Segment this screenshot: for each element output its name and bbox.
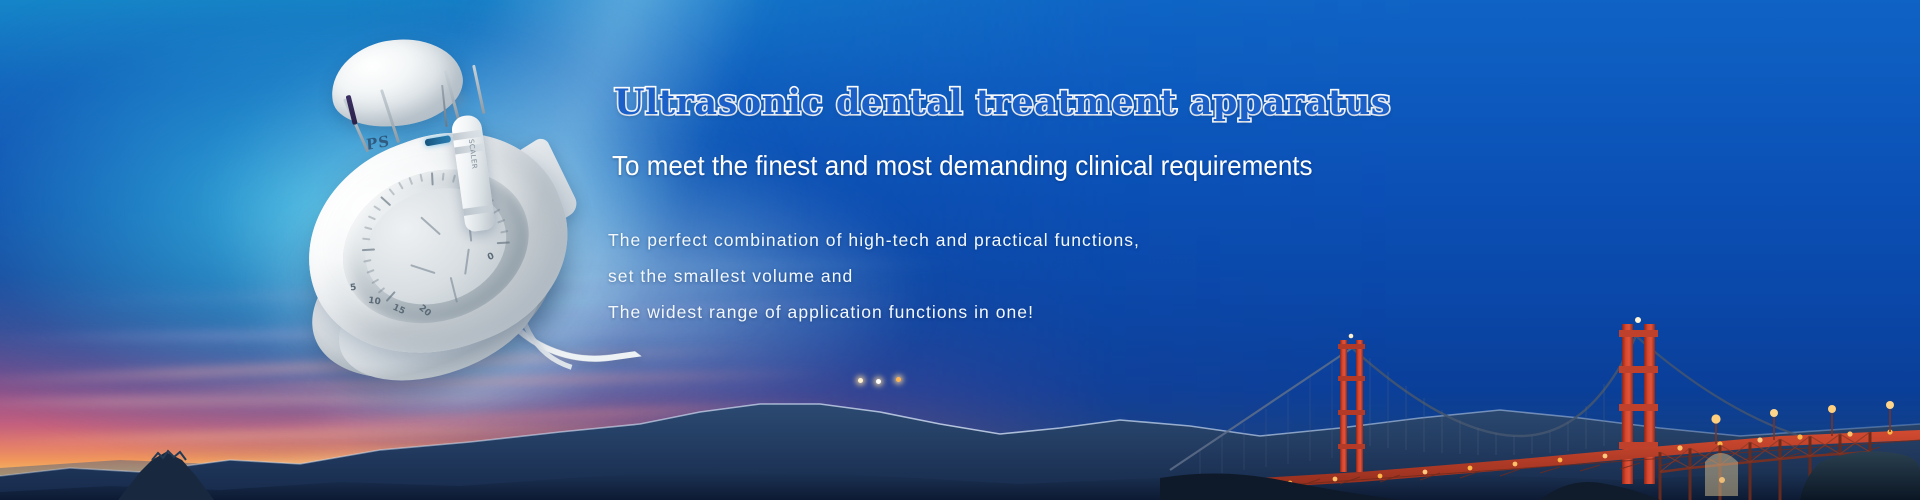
page-title: Ultrasonic dental treatment apparatus bbox=[614, 84, 1368, 122]
banner-body-copy: The perfect combination of high-tech and… bbox=[608, 223, 1368, 331]
body-line: set the smallest volume and bbox=[608, 259, 1368, 295]
bridge-tower-far bbox=[1338, 334, 1365, 472]
dial-tick bbox=[420, 174, 424, 182]
body-line: The widest range of application function… bbox=[608, 295, 1368, 331]
banner-copy-block: Ultrasonic dental treatment apparatus To… bbox=[608, 84, 1368, 330]
headland-rock-right bbox=[1800, 451, 1920, 500]
dial-tick bbox=[368, 215, 376, 220]
ridge-light bbox=[858, 378, 863, 383]
dial-tick bbox=[431, 172, 434, 185]
dial-scale-number: 5 bbox=[350, 283, 358, 294]
ridge-light bbox=[896, 377, 901, 382]
dial-tick bbox=[497, 241, 510, 244]
product-hero-banner: 20151050 PS SCALER Ultrasonic dental tre… bbox=[0, 0, 1920, 500]
dial-tick bbox=[389, 188, 396, 195]
ultrasonic-dental-scaler-product: 20151050 PS SCALER bbox=[224, 0, 647, 414]
dial-tick bbox=[442, 173, 445, 181]
ridge-light bbox=[876, 379, 881, 384]
dial-tick bbox=[408, 177, 413, 185]
dial-tick bbox=[452, 175, 456, 183]
dial-tick bbox=[380, 196, 391, 206]
dial-tick bbox=[373, 205, 381, 211]
dial-tick bbox=[362, 238, 370, 241]
page-subtitle: To meet the finest and most demanding cl… bbox=[612, 148, 1315, 183]
body-line: The perfect combination of high-tech and… bbox=[608, 223, 1368, 259]
dial-tick bbox=[398, 182, 404, 190]
dial-scale-number: 10 bbox=[367, 296, 381, 308]
dial-tick bbox=[364, 226, 372, 230]
